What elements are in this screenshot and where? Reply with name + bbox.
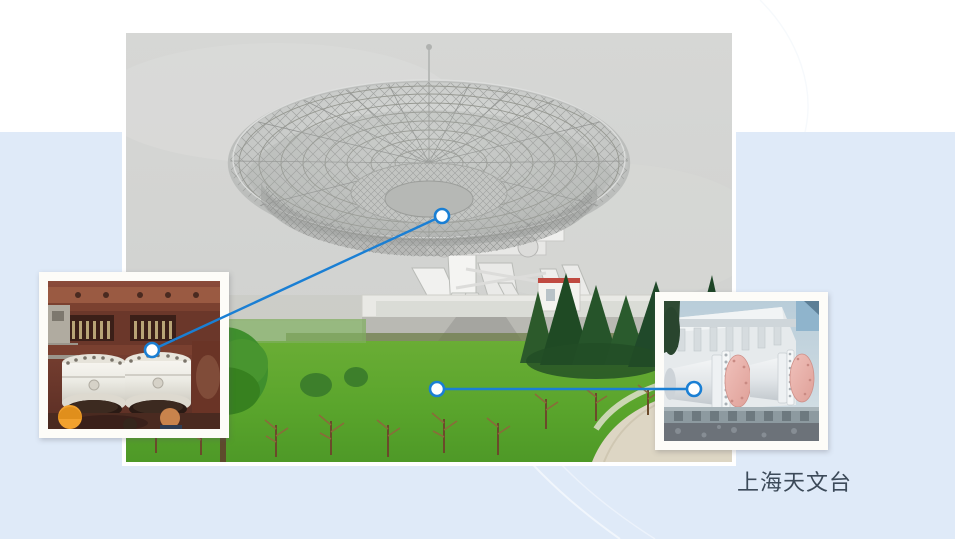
inset-bearing-assembly-rusty	[39, 272, 229, 438]
slide-canvas: 上海天文台	[0, 0, 955, 539]
inset-bearing-assembly-finished	[655, 292, 828, 450]
caption-label: 上海天文台	[737, 470, 852, 498]
inset-left-image	[48, 281, 220, 429]
inset-right-image	[664, 301, 819, 441]
